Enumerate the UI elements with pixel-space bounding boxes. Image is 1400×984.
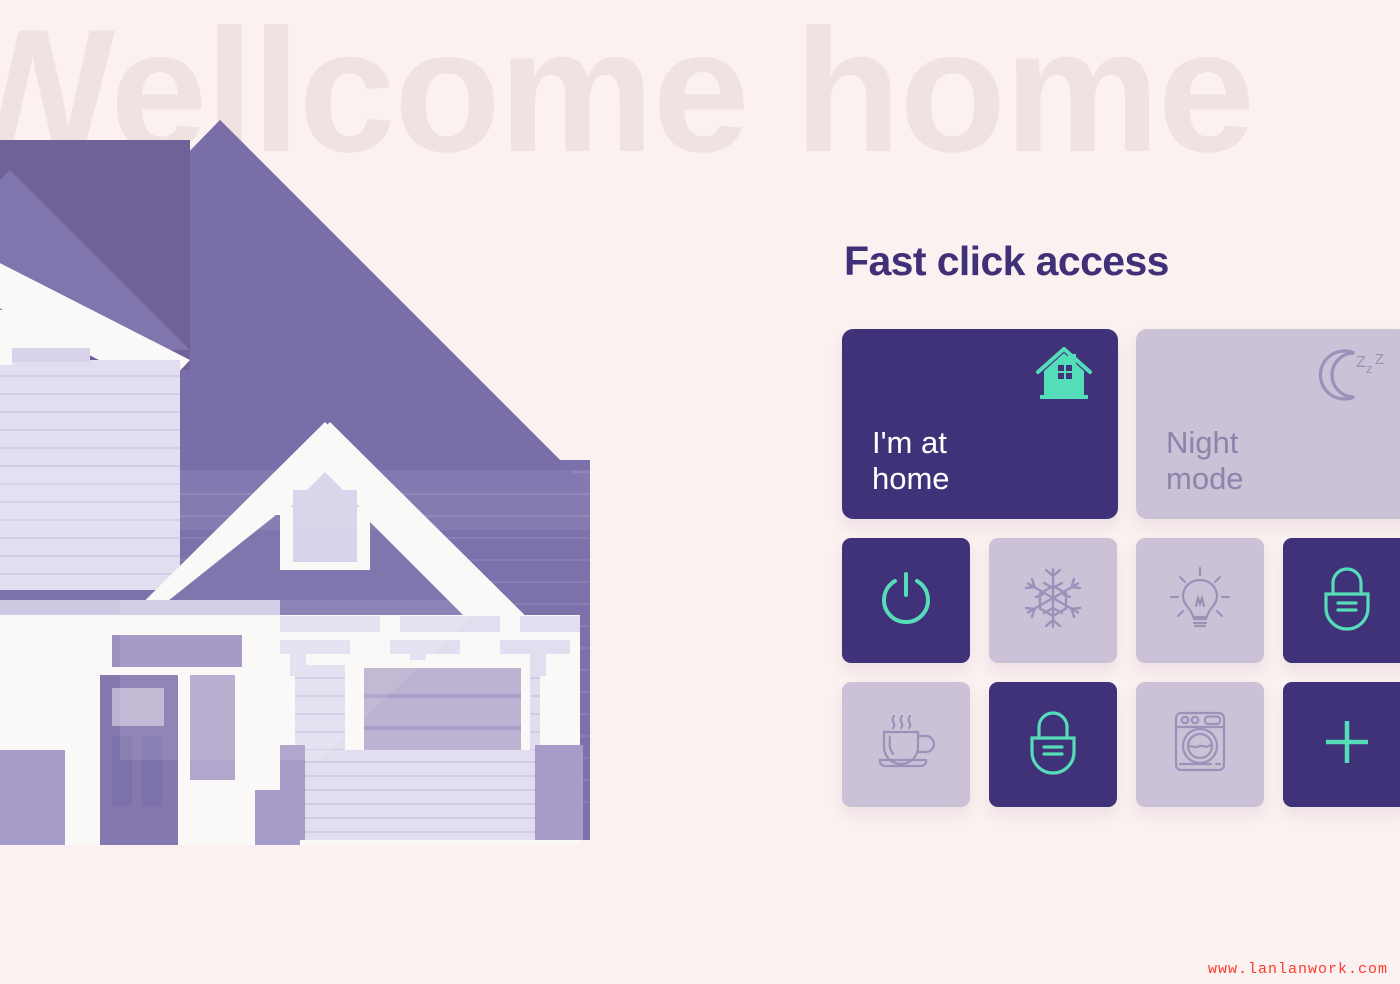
lightbulb-icon [1168, 566, 1232, 635]
tile-lighting[interactable] [1136, 538, 1264, 663]
lock-icon [1318, 564, 1376, 637]
tile-power[interactable] [842, 538, 970, 663]
scene-card-label: Night mode [1166, 425, 1244, 497]
tile-gate-lock[interactable] [989, 682, 1117, 807]
scene-card-label: I'm at home [872, 425, 950, 497]
power-icon [875, 567, 937, 634]
moon-zzz-icon: Z z Z [1318, 347, 1388, 408]
tile-door-lock[interactable] [1283, 538, 1400, 663]
svg-text:z: z [1366, 361, 1373, 376]
lock-icon [1024, 708, 1082, 781]
svg-text:Z: Z [1375, 351, 1384, 368]
dashboard-stage: Wellcome home [0, 0, 1400, 984]
scene-card-row: I'm at home Z z Z Night mode [842, 329, 1400, 519]
tile-washing-machine[interactable] [1136, 682, 1264, 807]
tile-air-conditioning[interactable] [989, 538, 1117, 663]
house-icon [1034, 347, 1094, 408]
page-title: Fast click access [844, 238, 1400, 285]
plus-icon [1319, 714, 1375, 775]
house-illustration [0, 60, 900, 850]
coffee-cup-icon [873, 711, 939, 778]
quick-action-grid [842, 538, 1400, 807]
washing-machine-icon [1169, 708, 1231, 781]
tile-coffee-maker[interactable] [842, 682, 970, 807]
scene-card-im-at-home[interactable]: I'm at home [842, 329, 1118, 519]
svg-text:Z: Z [1356, 354, 1366, 371]
tile-add-device[interactable] [1283, 682, 1400, 807]
site-watermark: www.lanlanwork.com [1208, 961, 1388, 978]
scene-card-night-mode[interactable]: Z z Z Night mode [1136, 329, 1400, 519]
fast-click-access-panel: Fast click access I'm at home [842, 238, 1400, 807]
snowflake-icon [1021, 566, 1085, 635]
